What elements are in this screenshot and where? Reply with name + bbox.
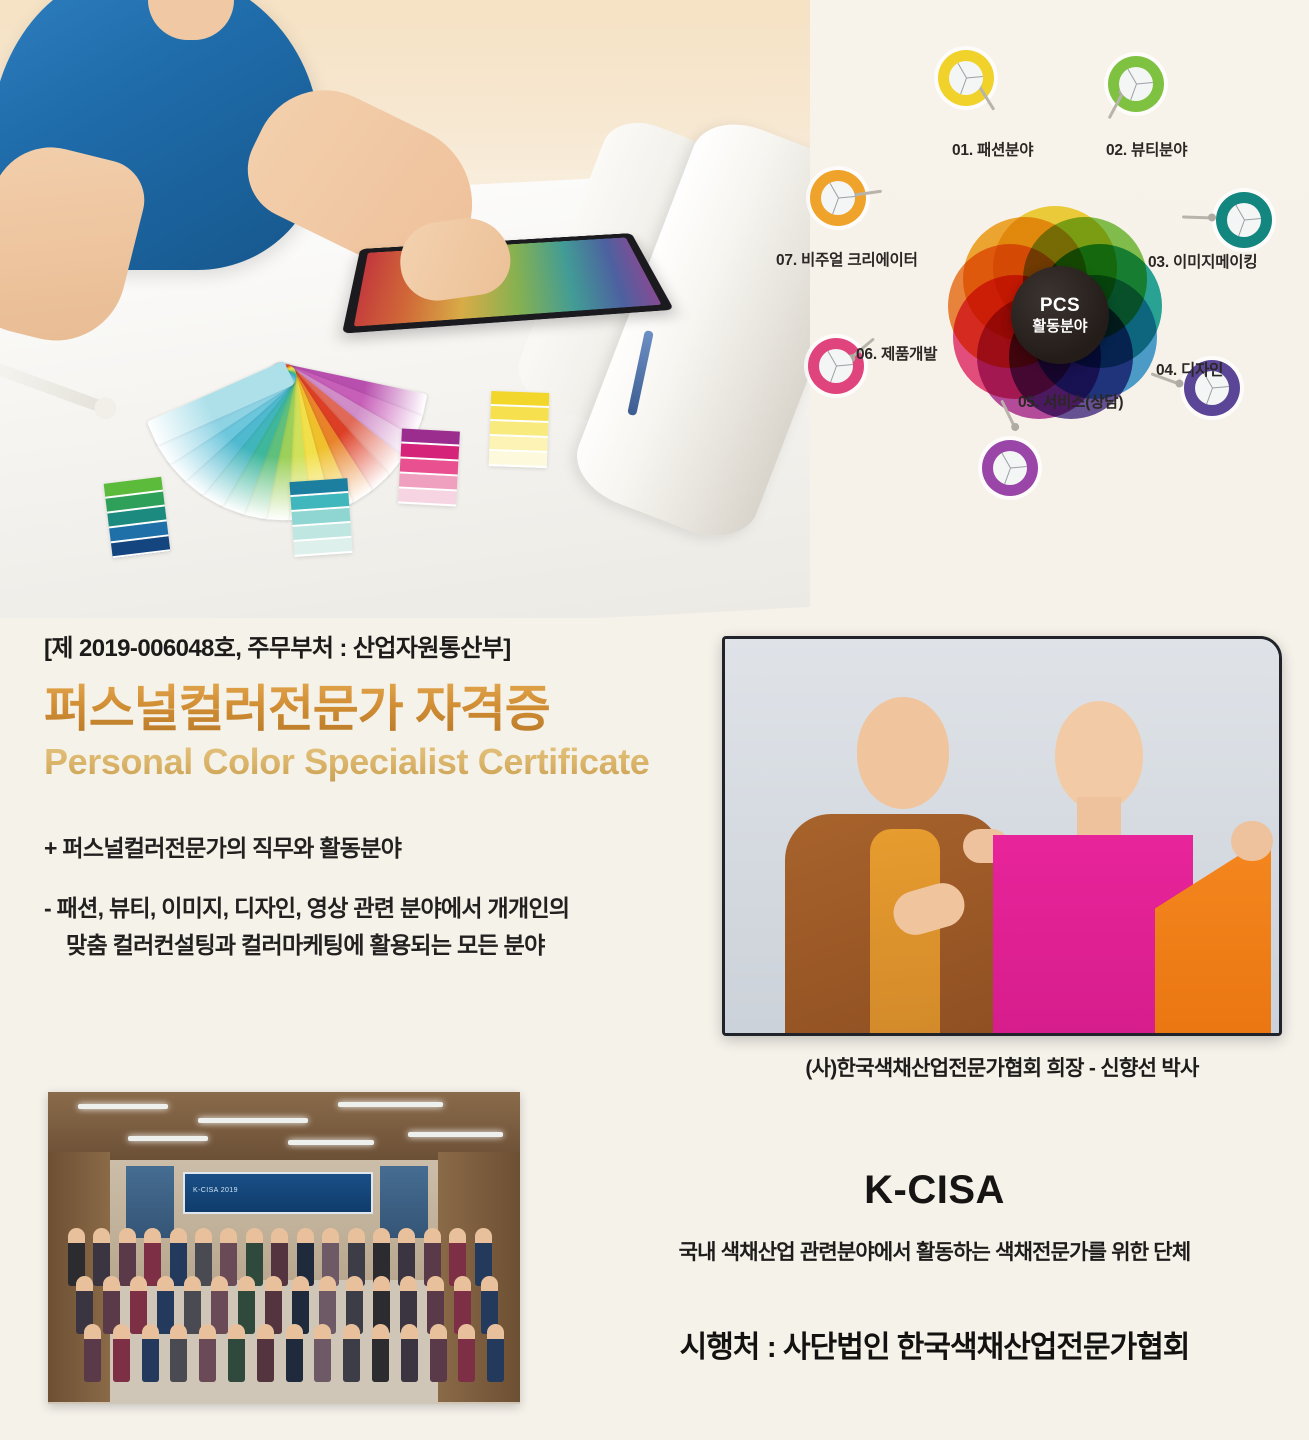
description-list: + 퍼스널컬러전문가의 직무와 활동분야 - 패션, 뷰티, 이미지, 디자인,… — [44, 829, 724, 965]
attendee — [458, 1324, 475, 1382]
org-abbrev: K-CISA — [560, 1168, 1309, 1213]
event-banner: K-CISA 2019 — [183, 1172, 373, 1214]
dial-face — [993, 451, 1027, 485]
ceiling-light — [288, 1140, 374, 1145]
attendee — [113, 1324, 130, 1382]
attendee — [257, 1324, 274, 1382]
attendee — [487, 1324, 504, 1382]
attendee — [401, 1324, 418, 1382]
attendee — [199, 1324, 216, 1382]
model-neck — [1077, 797, 1121, 837]
pie-clock-icon — [982, 440, 1038, 496]
pie-clock-icon — [810, 170, 866, 226]
diagram-label-04: 04. 디자인 — [1156, 358, 1223, 380]
dial-face — [949, 61, 983, 95]
pie-clock-icon — [1216, 192, 1272, 248]
dial-face — [821, 181, 855, 215]
org-description: 국내 색채산업 관련분야에서 활동하는 색채전문가를 위한 단체 — [560, 1236, 1309, 1266]
model-right-arm — [1231, 821, 1273, 861]
dial-face — [1227, 203, 1261, 237]
diagram-label-01: 01. 패션분야 — [952, 138, 1033, 160]
attendee — [286, 1324, 303, 1382]
attendee — [157, 1276, 174, 1334]
node-connector-03 — [1182, 215, 1216, 219]
model-head — [1055, 701, 1143, 811]
attendee — [144, 1228, 161, 1286]
org-operator: 시행처 : 사단법인 한국색채산업전문가협회 — [560, 1322, 1309, 1366]
ceiling-light — [338, 1102, 443, 1107]
registration-line: [제 2019-006048호, 주무부처 : 산업자원통산부] — [44, 628, 724, 663]
attendee — [170, 1324, 187, 1382]
dial-face — [819, 349, 853, 383]
diagram-node-01[interactable] — [938, 50, 994, 106]
attendee — [372, 1324, 389, 1382]
description-line-1: - 패션, 뷰티, 이미지, 디자인, 영상 관련 분야에서 개개인의 — [44, 895, 569, 921]
presenter-head — [857, 697, 949, 809]
pcs-activity-diagram: PCS 활동분야 01. 패션분야02. 뷰티분야03. 이미지메이킹04. 디… — [760, 34, 1309, 574]
description-line-2: 맞춤 컬러컨설팅과 컬러마케팅에 활용되는 모든 분야 — [44, 927, 724, 964]
swatch-chip — [398, 488, 457, 506]
core-label-pcs: PCS — [1040, 294, 1080, 318]
swatch-strip-teal — [289, 478, 352, 557]
swatch-chip — [489, 451, 547, 468]
attendee — [142, 1324, 159, 1382]
swatch-strip-pink — [398, 429, 460, 507]
attendee — [211, 1276, 228, 1334]
diagram-core: PCS 활동분야 — [1011, 266, 1109, 364]
group-attendees — [66, 1220, 502, 1400]
diagram-label-05: 05. 서비스(상담) — [1018, 390, 1123, 412]
attendee — [430, 1324, 447, 1382]
color-draping-demonstration-photo — [722, 636, 1282, 1036]
event-banner-text: K-CISA 2019 — [193, 1187, 238, 1194]
ceiling-light — [78, 1104, 168, 1109]
page-title-english: Personal Color Specialist Certificate — [44, 741, 724, 783]
association-group-photo: K-CISA 2019 — [48, 1092, 520, 1404]
color-consulting-photo — [0, 0, 810, 618]
ceiling-light — [128, 1136, 208, 1141]
diagram-label-03: 03. 이미지메이킹 — [1148, 250, 1257, 272]
diagram-label-06: 06. 제품개발 — [856, 342, 937, 364]
hero-banner: PCS 활동분야 01. 패션분야02. 뷰티분야03. 이미지메이킹04. 디… — [0, 0, 1309, 618]
description-heading: + 퍼스널컬러전문가의 직무와 활동분야 — [44, 829, 724, 863]
core-label-field: 활동분야 — [1032, 318, 1087, 337]
attendee — [84, 1324, 101, 1382]
swatch-strip-green-blue — [104, 477, 171, 559]
diagram-node-03[interactable] — [1216, 192, 1272, 248]
diagram-node-07[interactable] — [810, 170, 866, 226]
diagram-label-07: 07. 비주얼 크리에이터 — [776, 248, 918, 270]
photo-caption: (사)한국색채산업전문가협회 희장 - 신향선 박사 — [722, 1052, 1282, 1082]
attendee — [343, 1324, 360, 1382]
swatch-strip-yellow — [489, 391, 550, 468]
diagram-node-02[interactable] — [1108, 56, 1164, 112]
diagram-label-02: 02. 뷰티분야 — [1106, 138, 1187, 160]
ceiling-light — [198, 1118, 308, 1123]
attendee — [184, 1276, 201, 1334]
attendee — [314, 1324, 331, 1382]
ceiling-light — [408, 1132, 503, 1137]
attendee — [228, 1324, 245, 1382]
title-block: [제 2019-006048호, 주무부처 : 산업자원통산부] 퍼스널컬러전문… — [44, 628, 724, 965]
diagram-node-05[interactable] — [982, 440, 1038, 496]
dial-face — [1119, 67, 1153, 101]
attendee — [170, 1228, 187, 1286]
description-body: - 패션, 뷰티, 이미지, 디자인, 영상 관련 분야에서 개개인의 맞춤 컬… — [44, 890, 724, 965]
page-title-korean: 퍼스널컬러전문가 자격증 — [44, 681, 724, 737]
